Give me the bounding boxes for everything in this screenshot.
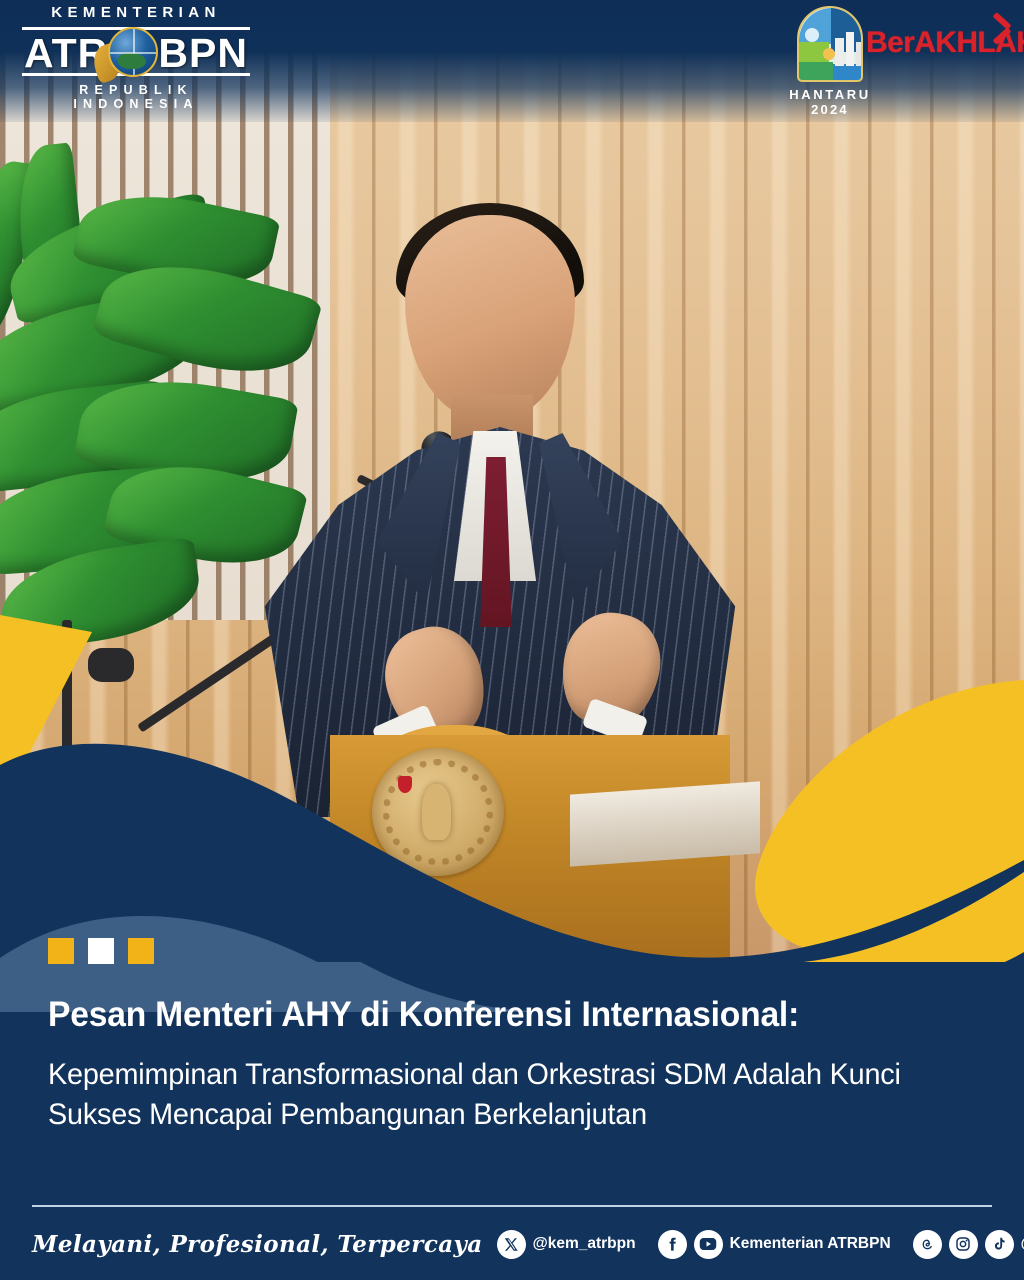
- poster-root: Pesan Menteri AHY di Konferensi Internas…: [0, 0, 1024, 1280]
- ministry-logo-republik: REPUBLIK INDONESIA: [16, 83, 256, 111]
- footer-bar: Melayani, Profesional, Terpercaya @kem_a…: [32, 1222, 1000, 1266]
- arch-emblem-icon: [797, 6, 863, 82]
- ministry-logo-kementerian: KEMENTERIAN: [16, 4, 256, 21]
- handle-facebook-youtube[interactable]: Kementerian ATRBPN: [730, 1235, 891, 1253]
- berakhlak-logo: BerAKHLAK: [866, 26, 1014, 78]
- footer-divider: [32, 1205, 992, 1207]
- youtube-icon[interactable]: [694, 1230, 723, 1259]
- speaker-head: [405, 215, 575, 420]
- page-subtitle: Kepemimpinan Transformasional dan Orkest…: [48, 1055, 941, 1134]
- tagline: Melayani, Profesional, Terpercaya: [32, 1231, 483, 1258]
- instagram-icon[interactable]: [949, 1230, 978, 1259]
- ministry-logo-bpn: BPN: [158, 30, 248, 77]
- x-twitter-icon[interactable]: [497, 1230, 526, 1259]
- handle-instagram-tiktok[interactable]: @kementerian.atrbpn: [1021, 1235, 1024, 1253]
- accent-squares: [48, 938, 154, 964]
- threads-icon[interactable]: [913, 1230, 942, 1259]
- square-white: [88, 938, 114, 964]
- ministry-logo-acronym-row: ATR BPN: [16, 23, 256, 79]
- tiktok-icon[interactable]: [985, 1230, 1014, 1259]
- globe-icon: [108, 27, 158, 77]
- square-gold-2: [128, 938, 154, 964]
- facebook-icon[interactable]: [658, 1230, 687, 1259]
- square-gold-1: [48, 938, 74, 964]
- handle-x[interactable]: @kem_atrbpn: [533, 1235, 636, 1253]
- hantaru-logo: HANTARU 2024: [784, 6, 876, 114]
- page-title: Pesan Menteri AHY di Konferensi Internas…: [48, 995, 941, 1035]
- globe-landmass: [118, 53, 146, 69]
- chevron-right-icon: [990, 16, 1016, 46]
- hantaru-year: 2024: [784, 102, 876, 117]
- ministry-logo: KEMENTERIAN ATR BPN REPUBLIK INDONESIA: [16, 4, 256, 114]
- hantaru-name: HANTARU: [784, 87, 876, 102]
